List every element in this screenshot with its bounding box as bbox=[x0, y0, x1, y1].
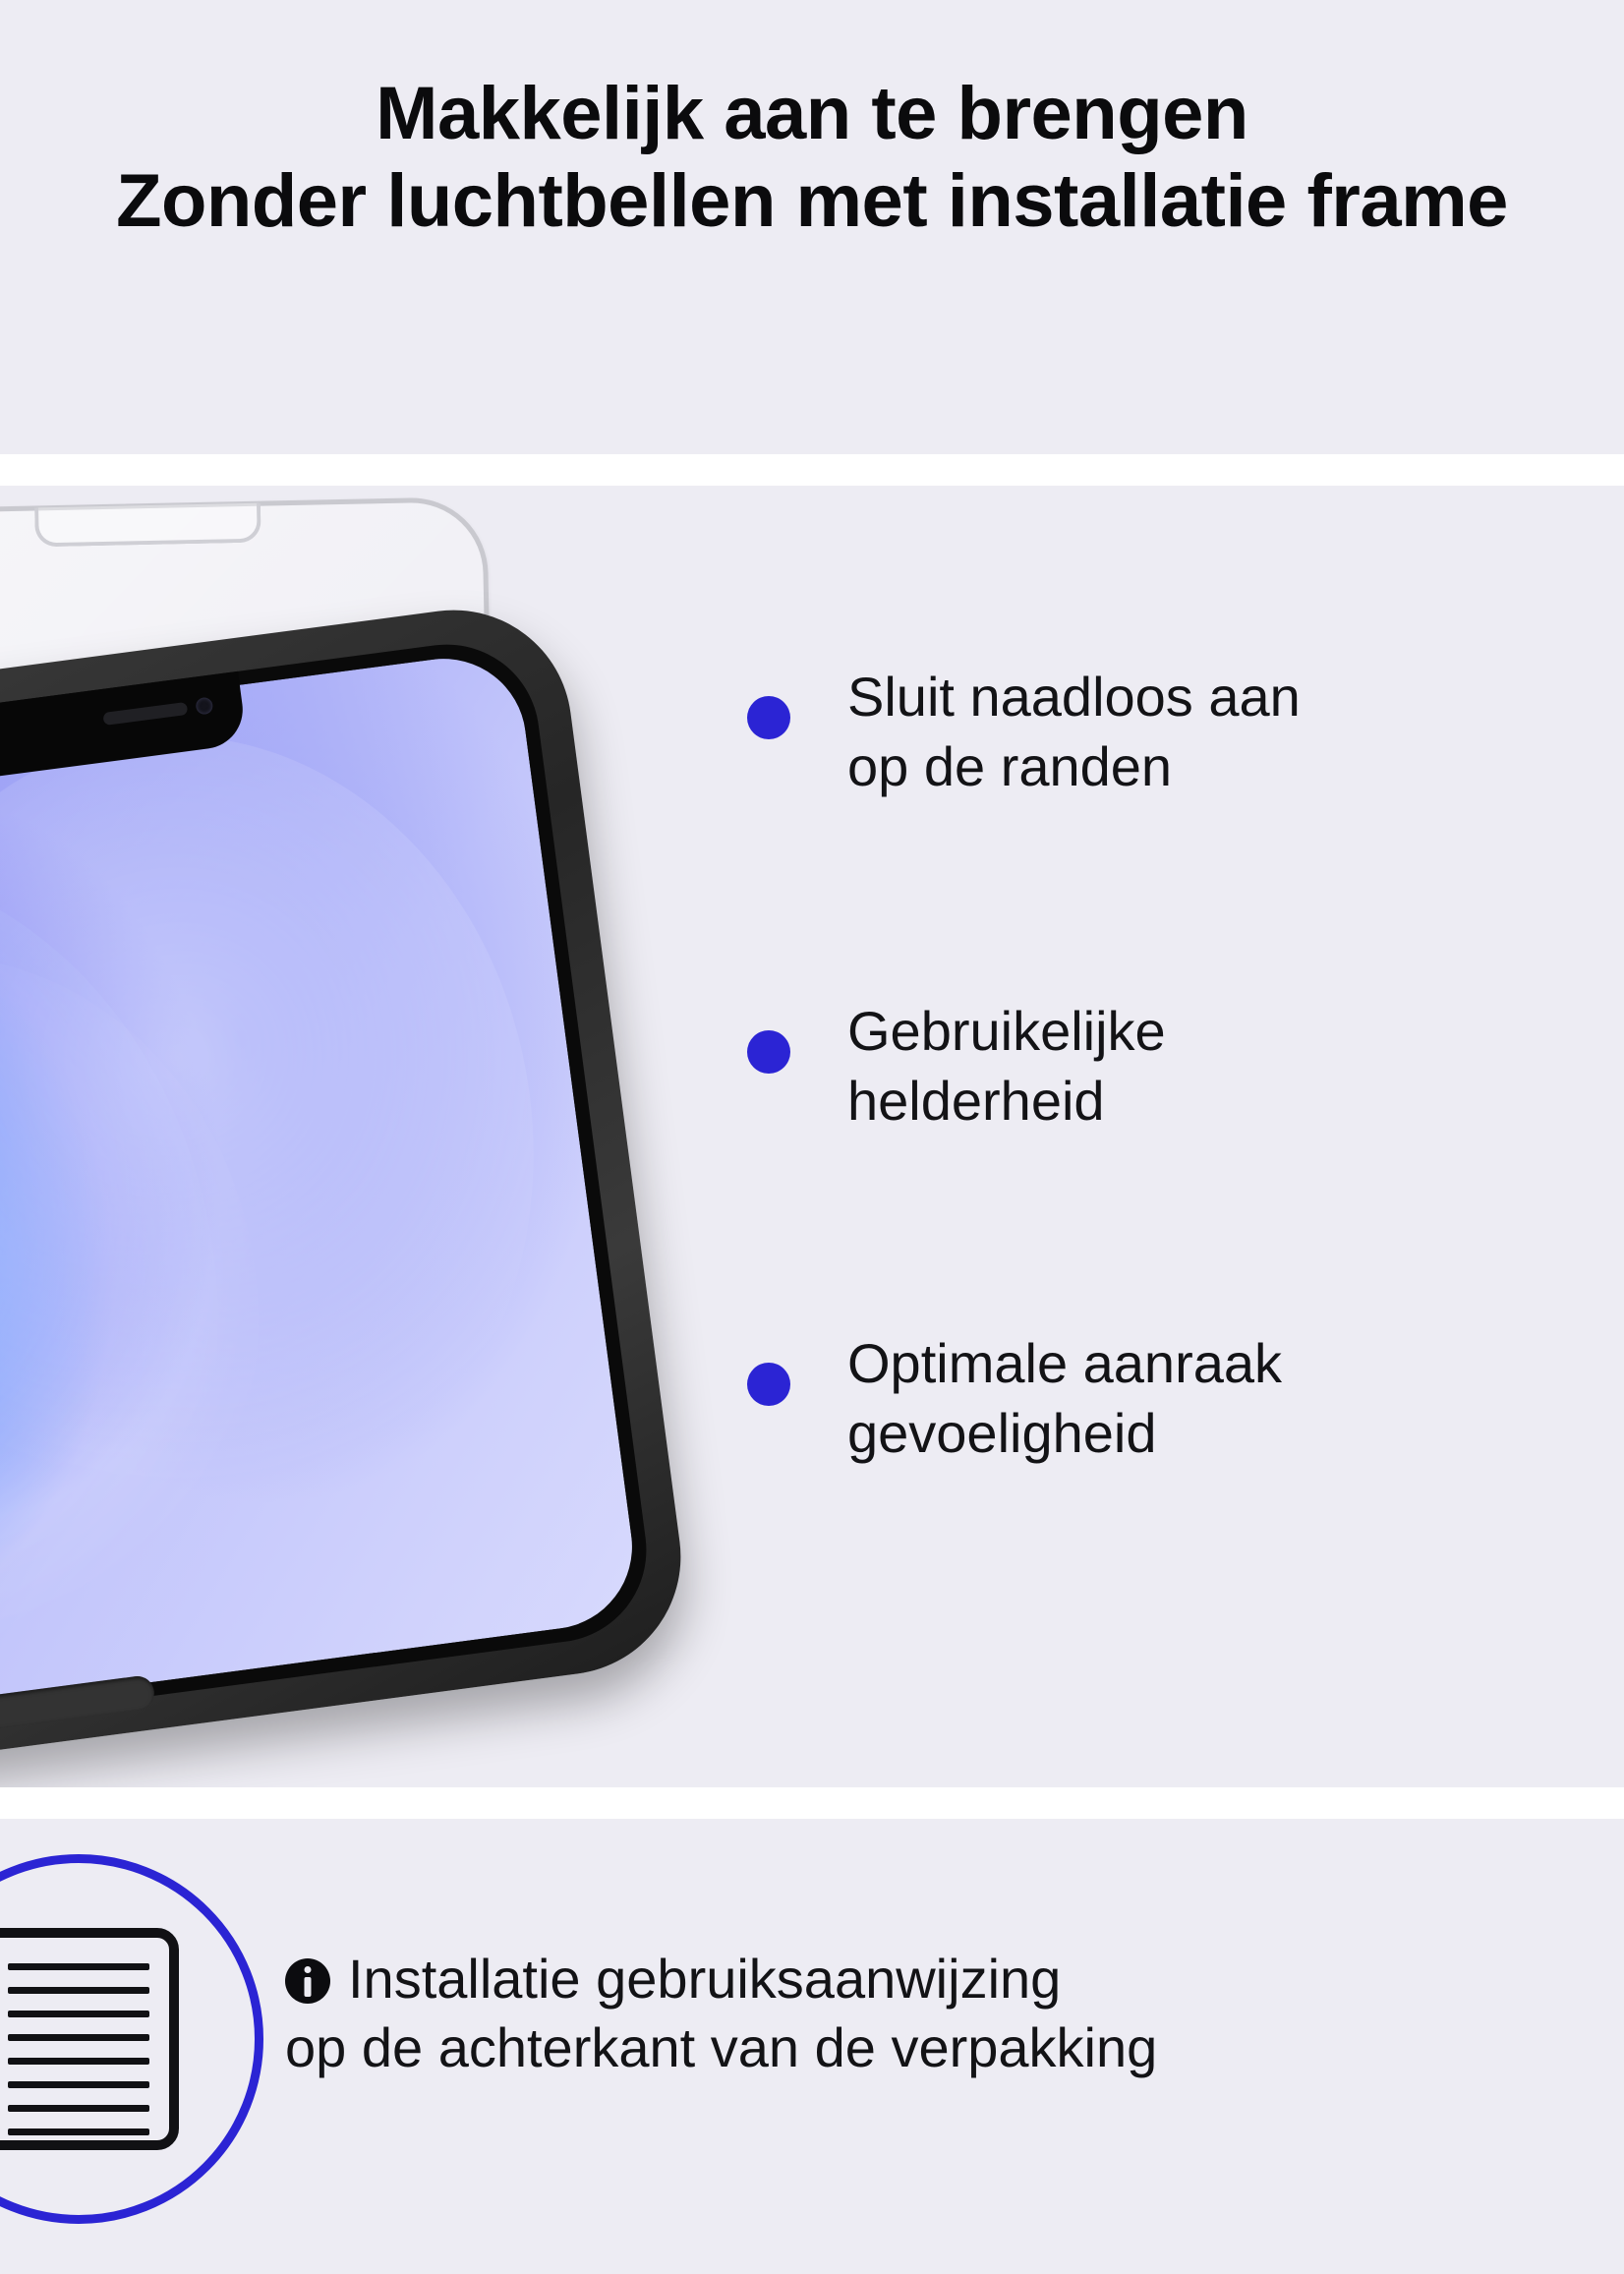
doc-line bbox=[8, 1987, 149, 1994]
product-photo bbox=[0, 486, 747, 1787]
headline-line-1: Makkelijk aan te brengen bbox=[376, 72, 1248, 155]
manual-badge bbox=[0, 1854, 263, 2224]
feature-line-2: helderheid bbox=[847, 1067, 1166, 1137]
wallpaper-arc-lilac bbox=[0, 693, 582, 1582]
feature-line-1: Optimale aanraak bbox=[847, 1329, 1282, 1399]
list-item: Sluit naadloos aan op de randen bbox=[747, 663, 1624, 801]
smartphone-body bbox=[0, 596, 695, 1781]
feature-line-1: Sluit naadloos aan bbox=[847, 663, 1301, 732]
phone-screen bbox=[0, 649, 642, 1728]
header-band: Makkelijk aan te brengen Zonder luchtbel… bbox=[0, 0, 1624, 454]
footer-line-1-row: Installatie gebruiksaanwijzing bbox=[285, 1945, 1624, 2013]
list-item: Gebruikelijke helderheid bbox=[747, 997, 1624, 1136]
bullet-dot-icon bbox=[747, 1363, 790, 1406]
footer-line-2: op de achterkant van de verpakking bbox=[285, 2013, 1624, 2082]
earpiece-speaker-icon bbox=[102, 702, 188, 726]
doc-line bbox=[8, 2058, 149, 2065]
doc-line bbox=[8, 1963, 149, 1970]
feature-line-2: gevoeligheid bbox=[847, 1399, 1282, 1469]
bullet-dot-icon bbox=[747, 1030, 790, 1074]
divider-top bbox=[0, 454, 1624, 486]
feature-line-2: op de randen bbox=[847, 732, 1301, 802]
doc-line bbox=[8, 2105, 149, 2112]
headline-line-2: Zonder luchtbellen met installatie frame bbox=[0, 158, 1624, 246]
divider-bottom bbox=[0, 1787, 1624, 1819]
feature-list: Sluit naadloos aan op de randen Gebruike… bbox=[747, 486, 1624, 1787]
bullet-dot-icon bbox=[747, 696, 790, 739]
features-band: Sluit naadloos aan op de randen Gebruike… bbox=[0, 486, 1624, 1787]
page-title: Makkelijk aan te brengen Zonder luchtbel… bbox=[0, 71, 1624, 246]
doc-line bbox=[8, 2034, 149, 2041]
manual-document-icon bbox=[0, 1928, 179, 2150]
infographic-page: Makkelijk aan te brengen Zonder luchtbel… bbox=[0, 0, 1624, 2274]
feature-line-1: Gebruikelijke bbox=[847, 997, 1166, 1067]
doc-line bbox=[8, 2081, 149, 2088]
feature-text: Gebruikelijke helderheid bbox=[847, 997, 1166, 1136]
front-camera-icon bbox=[195, 697, 213, 716]
phone-bezel bbox=[0, 633, 658, 1744]
doc-line bbox=[8, 2128, 149, 2135]
glass-notch-cutout bbox=[34, 503, 261, 548]
feature-text: Sluit naadloos aan op de randen bbox=[847, 663, 1301, 801]
feature-text: Optimale aanraak gevoeligheid bbox=[847, 1329, 1282, 1468]
footer-text: Installatie gebruiksaanwijzing op de ach… bbox=[285, 1945, 1624, 2082]
info-icon bbox=[285, 1958, 330, 2004]
list-item: Optimale aanraak gevoeligheid bbox=[747, 1329, 1624, 1468]
doc-line bbox=[8, 2011, 149, 2017]
footer-line-1: Installatie gebruiksaanwijzing bbox=[348, 1948, 1061, 2010]
footer-band: Installatie gebruiksaanwijzing op de ach… bbox=[0, 1819, 1624, 2274]
